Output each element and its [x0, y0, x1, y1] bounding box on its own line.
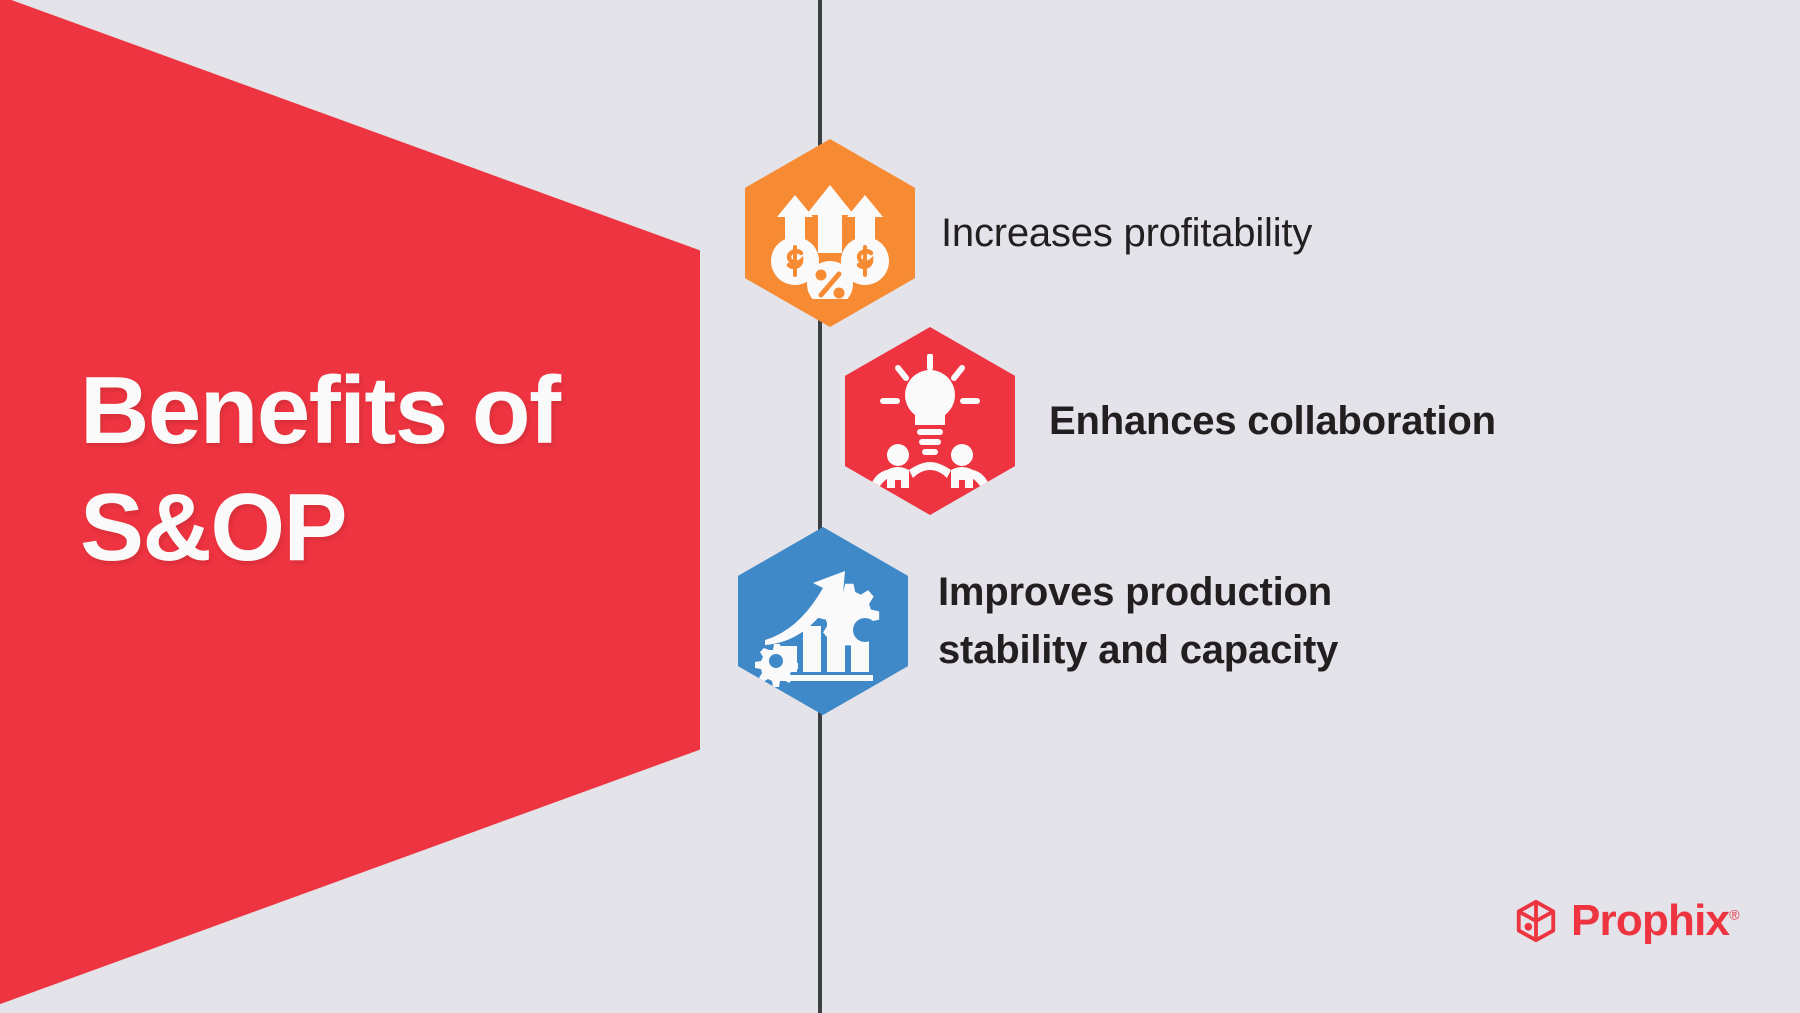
prophix-name: Prophix	[1571, 896, 1729, 945]
rising-arrows-money-icon	[745, 139, 915, 327]
benefit-item-collaboration[interactable]: Enhances collaboration	[845, 327, 1496, 515]
prophix-logo[interactable]: Prophix®	[1513, 898, 1739, 944]
benefit-label-production: Improves production stability and capaci…	[938, 563, 1338, 679]
benefit-label-collaboration: Enhances collaboration	[1049, 392, 1496, 450]
infographic-canvas: Benefits of S&OP	[0, 0, 1800, 1013]
lightbulb-teamwork-icon	[845, 327, 1015, 515]
registered-trademark-icon: ®	[1729, 906, 1739, 922]
prophix-wordmark: Prophix®	[1571, 899, 1739, 943]
hero-title-line-1: Benefits of	[80, 357, 560, 464]
benefit-label-profitability: Increases profitability	[941, 204, 1312, 262]
benefit-item-production[interactable]: Improves production stability and capaci…	[738, 527, 1338, 715]
prophix-cube-logo-icon	[1513, 898, 1559, 944]
page-title: Benefits of S&OP	[80, 352, 720, 586]
benefit-item-profitability[interactable]: Increases profitability	[745, 139, 1312, 327]
hero-title-line-2: S&OP	[80, 469, 720, 586]
growth-chart-gears-icon	[738, 527, 908, 715]
